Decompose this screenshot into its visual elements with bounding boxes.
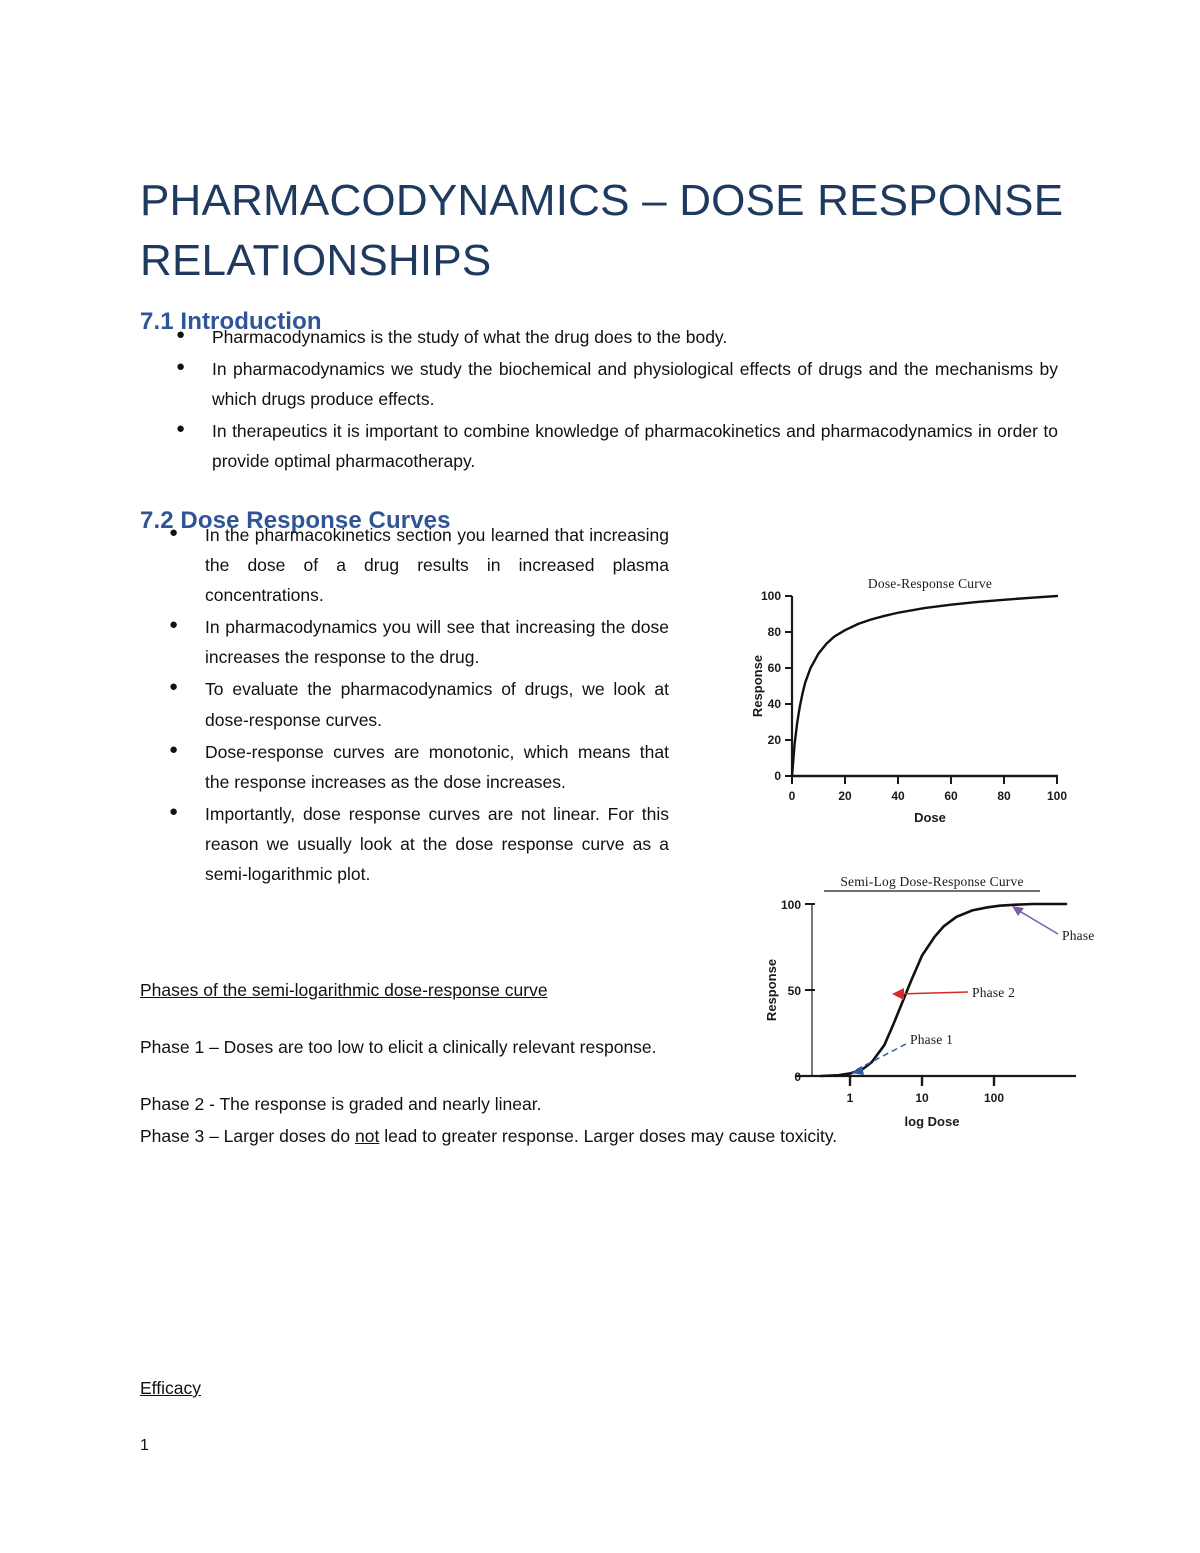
x-axis-label: log Dose bbox=[905, 1114, 960, 1129]
y-axis-ticks bbox=[805, 904, 815, 1076]
svg-text:1: 1 bbox=[847, 1091, 854, 1105]
phase-1-text: Phase 1 – Doses are too low to elicit a … bbox=[140, 1032, 668, 1062]
list-item-text: Importantly, dose response curves are no… bbox=[205, 804, 669, 884]
list-item: ●In the pharmacokinetics section you lea… bbox=[205, 520, 669, 610]
phases-heading: Phases of the semi-logarithmic dose-resp… bbox=[140, 975, 548, 1005]
phase-2-text: Phase 2 - The response is graded and nea… bbox=[140, 1089, 660, 1119]
list-item: ●In pharmacodynamics we study the bioche… bbox=[212, 354, 1058, 414]
svg-text:10: 10 bbox=[915, 1091, 929, 1105]
phase-3-text-pre: Phase 3 – Larger doses do bbox=[140, 1126, 355, 1146]
x-axis-label: Dose bbox=[914, 810, 946, 825]
svg-text:100: 100 bbox=[984, 1091, 1004, 1105]
y-axis-label: Response bbox=[750, 655, 765, 717]
efficacy-heading: Efficacy bbox=[140, 1378, 201, 1399]
phase-2-annotation-label: Phase 2 bbox=[972, 985, 1015, 1000]
data-curve bbox=[792, 596, 1057, 776]
svg-text:80: 80 bbox=[768, 625, 782, 639]
annotation-phase-3: Phase 3 bbox=[1012, 906, 1098, 943]
y-axis-label: Response bbox=[764, 959, 779, 1021]
bullet-icon: ● bbox=[169, 520, 178, 546]
intro-bullet-list: ●Pharmacodynamics is the study of what t… bbox=[212, 322, 1058, 478]
svg-text:0: 0 bbox=[794, 1070, 801, 1084]
y-axis-tick-labels: 100 50 0 bbox=[781, 898, 801, 1084]
chart-title: Dose-Response Curve bbox=[868, 576, 992, 591]
bullet-icon: ● bbox=[169, 674, 178, 700]
bullet-icon: ● bbox=[169, 737, 178, 763]
svg-text:40: 40 bbox=[768, 697, 782, 711]
list-item-text: In the pharmacokinetics section you lear… bbox=[205, 525, 669, 605]
bullet-icon: ● bbox=[176, 354, 185, 380]
phase-3-arrow-line bbox=[1016, 909, 1058, 934]
phase-3-arrow-head bbox=[1012, 906, 1024, 916]
list-item: ●Dose-response curves are monotonic, whi… bbox=[205, 737, 669, 797]
svg-text:50: 50 bbox=[788, 984, 802, 998]
dose-response-bullet-list: ●In the pharmacokinetics section you lea… bbox=[205, 520, 669, 891]
data-curve bbox=[821, 904, 1066, 1076]
figure-semilog-dose-response-curve: Semi-Log Dose-Response Curve 100 50 0 bbox=[746, 864, 1098, 1142]
list-item-text: In pharmacodynamics you will see that in… bbox=[205, 617, 669, 667]
dose-response-chart-svg: Dose-Response Curve 0 20 40 60 80 100 bbox=[740, 564, 1080, 832]
bullet-icon: ● bbox=[169, 799, 178, 825]
phase-2-arrow-line bbox=[898, 992, 968, 994]
svg-text:40: 40 bbox=[891, 789, 905, 803]
x-axis-ticks bbox=[850, 1076, 994, 1086]
list-item: ●In pharmacodynamics you will see that i… bbox=[205, 612, 669, 672]
svg-text:60: 60 bbox=[944, 789, 958, 803]
phase-3-annotation-label: Phase 3 bbox=[1062, 928, 1098, 943]
list-item-text: Pharmacodynamics is the study of what th… bbox=[212, 327, 727, 347]
list-item-text: To evaluate the pharmacodynamics of drug… bbox=[205, 679, 669, 729]
document-page: PHARMACODYNAMICS – DOSE RESPONSE RELATIO… bbox=[0, 0, 1200, 1553]
page-number: 1 bbox=[140, 1437, 149, 1455]
svg-text:0: 0 bbox=[789, 789, 796, 803]
chart-title: Semi-Log Dose-Response Curve bbox=[840, 874, 1023, 889]
svg-text:100: 100 bbox=[781, 898, 801, 912]
page-title: PHARMACODYNAMICS – DOSE RESPONSE RELATIO… bbox=[140, 171, 1070, 290]
phase-3-emphasis: not bbox=[355, 1126, 379, 1146]
phase-2-arrow-head bbox=[892, 988, 904, 1000]
semilog-chart-svg: Semi-Log Dose-Response Curve 100 50 0 bbox=[746, 864, 1098, 1142]
bullet-icon: ● bbox=[169, 612, 178, 638]
annotation-phase-2: Phase 2 bbox=[892, 985, 1015, 1000]
list-item: ●Pharmacodynamics is the study of what t… bbox=[212, 322, 1058, 352]
svg-text:20: 20 bbox=[838, 789, 852, 803]
x-axis-tick-labels: 1 10 100 bbox=[847, 1091, 1005, 1105]
list-item: ●Importantly, dose response curves are n… bbox=[205, 799, 669, 889]
annotation-phase-1: Phase 1 bbox=[851, 1032, 953, 1075]
svg-text:0: 0 bbox=[774, 769, 781, 783]
svg-text:100: 100 bbox=[1047, 789, 1067, 803]
bullet-icon: ● bbox=[176, 322, 185, 348]
list-item: ●To evaluate the pharmacodynamics of dru… bbox=[205, 674, 669, 734]
svg-text:80: 80 bbox=[997, 789, 1011, 803]
phase-1-annotation-label: Phase 1 bbox=[910, 1032, 953, 1047]
svg-text:20: 20 bbox=[768, 733, 782, 747]
x-axis-tick-labels: 0 20 40 60 80 100 bbox=[789, 789, 1068, 803]
svg-text:100: 100 bbox=[761, 589, 781, 603]
list-item: ●In therapeutics it is important to comb… bbox=[212, 416, 1058, 476]
list-item-text: Dose-response curves are monotonic, whic… bbox=[205, 742, 669, 792]
svg-text:60: 60 bbox=[768, 661, 782, 675]
bullet-icon: ● bbox=[176, 416, 185, 442]
list-item-text: In pharmacodynamics we study the biochem… bbox=[212, 359, 1058, 409]
list-item-text: In therapeutics it is important to combi… bbox=[212, 421, 1058, 471]
figure-dose-response-curve: Dose-Response Curve 0 20 40 60 80 100 bbox=[740, 564, 1080, 832]
